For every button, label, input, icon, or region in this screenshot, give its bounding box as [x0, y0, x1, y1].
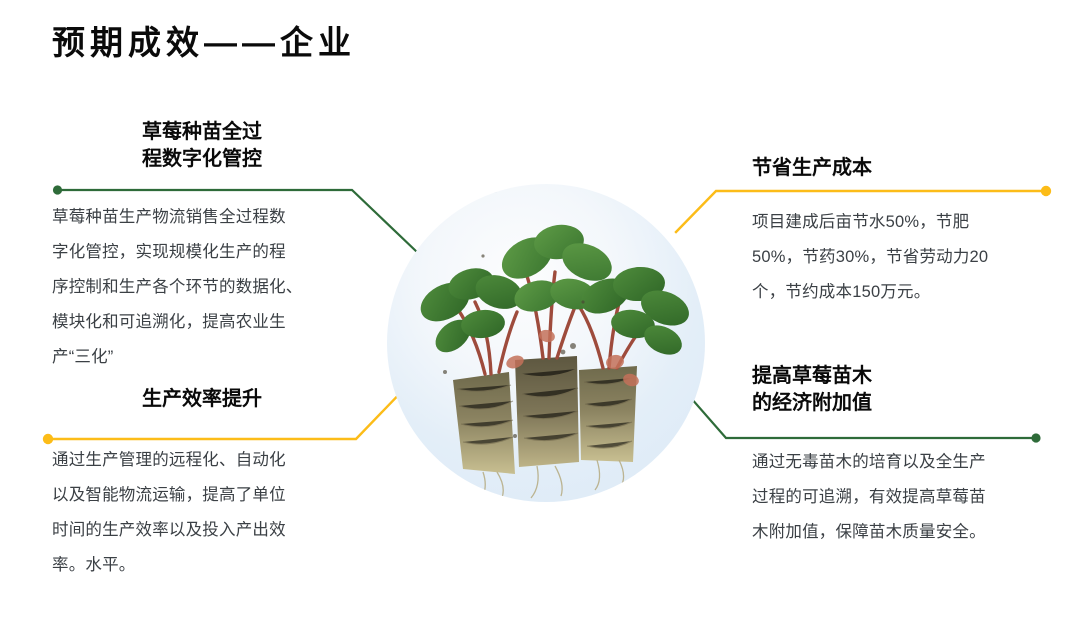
- seedlings-illustration: [387, 184, 705, 502]
- page-title: 预期成效——企业: [52, 22, 356, 64]
- block-top-right-heading: 节省生产成本: [752, 155, 1052, 182]
- block-top-left-body: 草莓种苗生产物流销售全过程数 字化管控，实现规模化生产的程 序控制和生产各个环节…: [52, 200, 352, 375]
- strawberry-seedlings-photo: 草莓苗 草莓苗 草莓苗: [387, 184, 705, 502]
- block-bottom-left: 生产效率提升 通过生产管理的远程化、自动化 以及智能物流运输，提高了单位 时间的…: [52, 386, 352, 583]
- block-bottom-right: 提高草莓苗木 的经济附加值 通过无毒苗木的培育以及全生产 过程的可追溯，有效提高…: [752, 363, 1052, 550]
- block-bottom-right-heading: 提高草莓苗木 的经济附加值: [752, 363, 1052, 417]
- block-top-left: 草莓种苗全过 程数字化管控 草莓种苗生产物流销售全过程数 字化管控，实现规模化生…: [52, 119, 352, 375]
- block-bottom-left-heading: 生产效率提升: [52, 386, 352, 413]
- block-bottom-left-body: 通过生产管理的远程化、自动化 以及智能物流运输，提高了单位 时间的生产效率以及投…: [52, 443, 352, 583]
- block-top-right-body: 项目建成后亩节水50%，节肥 50%，节药30%，节省劳动力20 个，节约成本1…: [752, 205, 1052, 310]
- block-top-right: 节省生产成本 项目建成后亩节水50%，节肥 50%，节药30%，节省劳动力20 …: [752, 155, 1052, 310]
- block-top-left-heading: 草莓种苗全过 程数字化管控: [52, 119, 352, 173]
- block-bottom-right-body: 通过无毒苗木的培育以及全生产 过程的可追溯，有效提高草莓苗 木附加值，保障苗木质…: [752, 445, 1052, 550]
- slide-canvas: 预期成效——企业 草莓苗 草莓苗 草莓苗: [0, 0, 1080, 624]
